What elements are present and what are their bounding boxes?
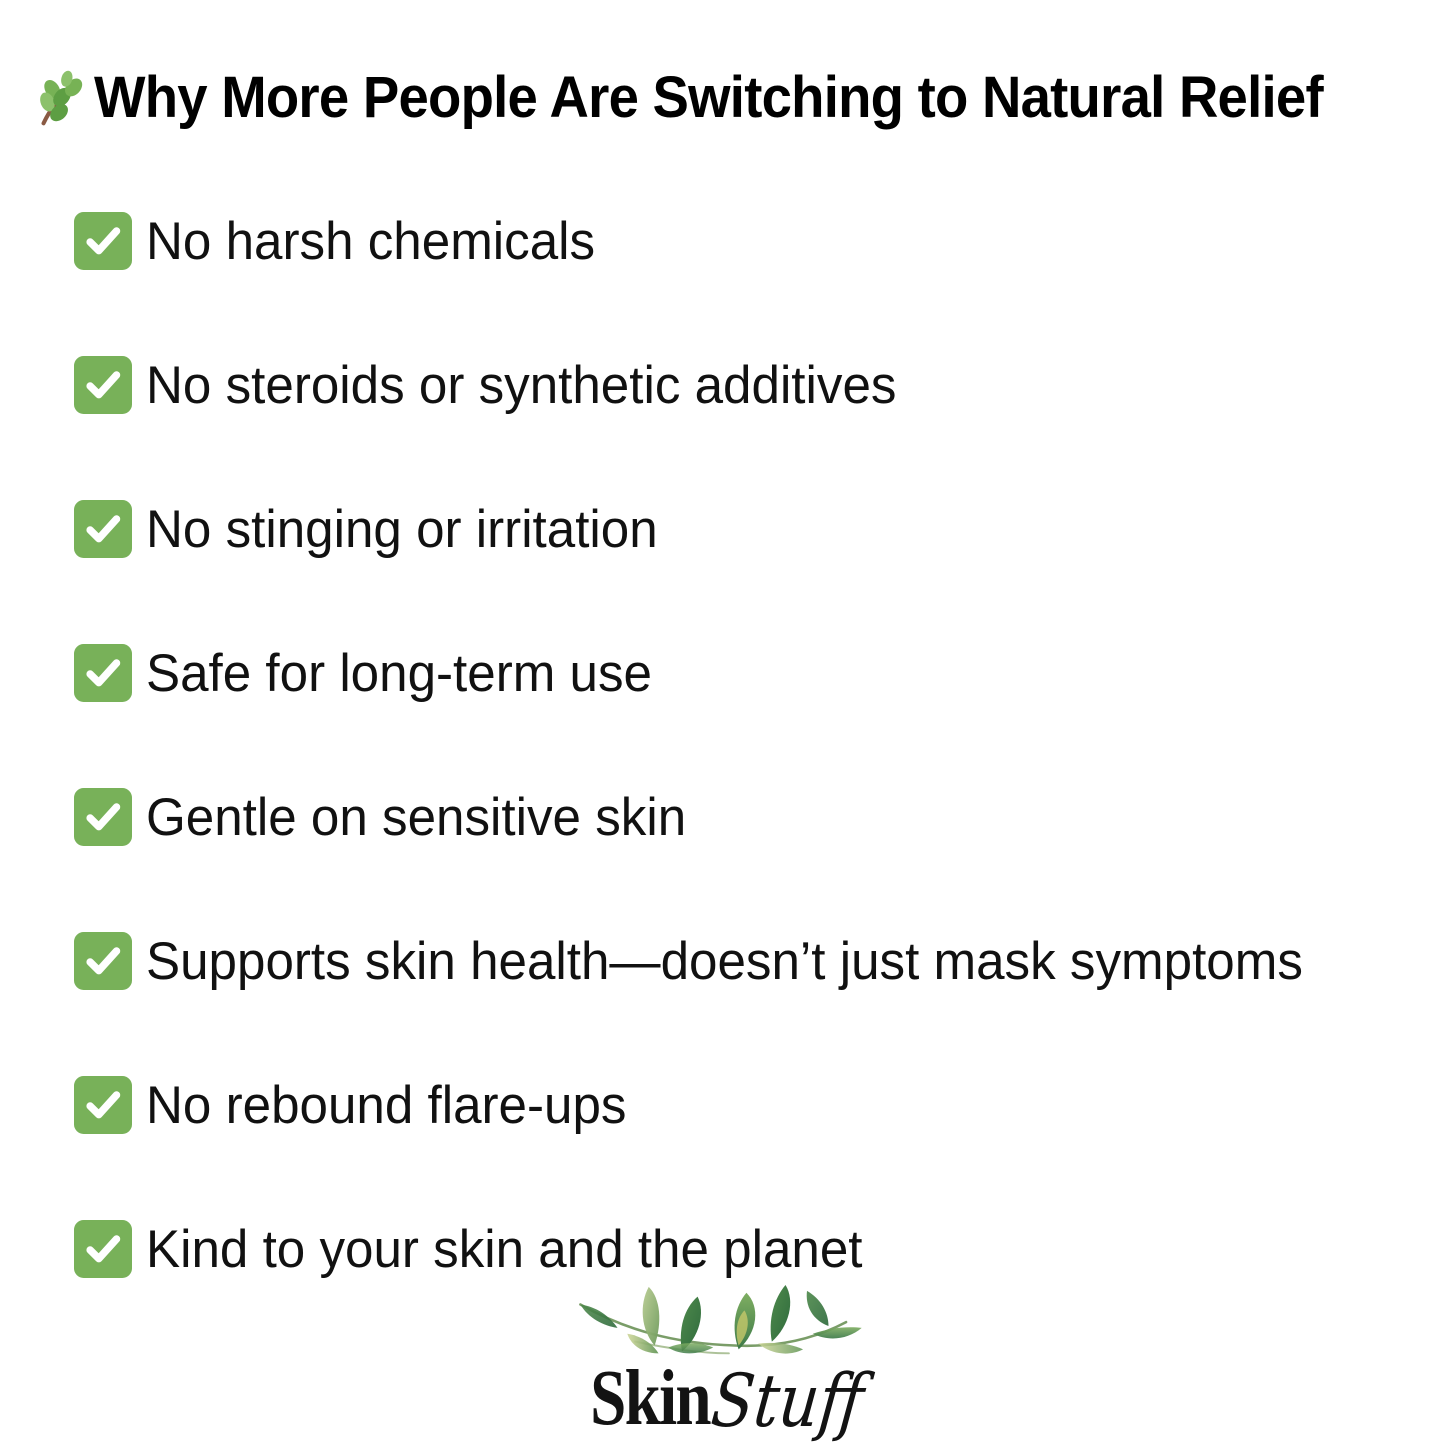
check-mark-button-icon — [74, 644, 132, 702]
page-title: Why More People Are Switching to Natural… — [94, 68, 1323, 129]
check-mark-button-icon — [74, 500, 132, 558]
list-item-label: Safe for long-term use — [146, 647, 652, 700]
list-item: Safe for long-term use — [74, 637, 1424, 709]
check-mark-button-icon — [74, 1220, 132, 1278]
check-mark-button-icon — [74, 356, 132, 414]
benefits-checklist: No harsh chemicals No steroids or synthe… — [74, 205, 1424, 1285]
list-item-label: No rebound flare-ups — [146, 1079, 626, 1132]
list-item: Gentle on sensitive skin — [74, 781, 1424, 853]
list-item: No harsh chemicals — [74, 205, 1424, 277]
list-item: No steroids or synthetic additives — [74, 349, 1424, 421]
list-item: No stinging or irritation — [74, 493, 1424, 565]
brand-name-secondary: Stuff — [708, 1364, 867, 1437]
check-mark-button-icon — [74, 212, 132, 270]
page-title-row: Why More People Are Switching to Natural… — [30, 64, 1401, 132]
brand-wordmark: Skin Stuff — [582, 1361, 863, 1435]
poster-canvas: Why More People Are Switching to Natural… — [0, 0, 1445, 1445]
check-mark-button-icon — [74, 788, 132, 846]
brand-name-primary: Skin — [590, 1358, 710, 1438]
list-item-label: No steroids or synthetic additives — [146, 359, 896, 412]
list-item-label: Supports skin health—doesn’t just mask s… — [146, 935, 1303, 988]
check-mark-button-icon — [74, 1076, 132, 1134]
check-mark-button-icon — [74, 932, 132, 990]
herb-icon — [30, 70, 92, 132]
list-item-label: No stinging or irritation — [146, 503, 658, 556]
brand-logo: Skin Stuff — [0, 1283, 1445, 1435]
list-item: Kind to your skin and the planet — [74, 1213, 1424, 1285]
list-item-label: Kind to your skin and the planet — [146, 1223, 863, 1276]
list-item: Supports skin health—doesn’t just mask s… — [74, 925, 1424, 997]
list-item-label: Gentle on sensitive skin — [146, 791, 686, 844]
list-item: No rebound flare-ups — [74, 1069, 1424, 1141]
list-item-label: No harsh chemicals — [146, 215, 595, 268]
